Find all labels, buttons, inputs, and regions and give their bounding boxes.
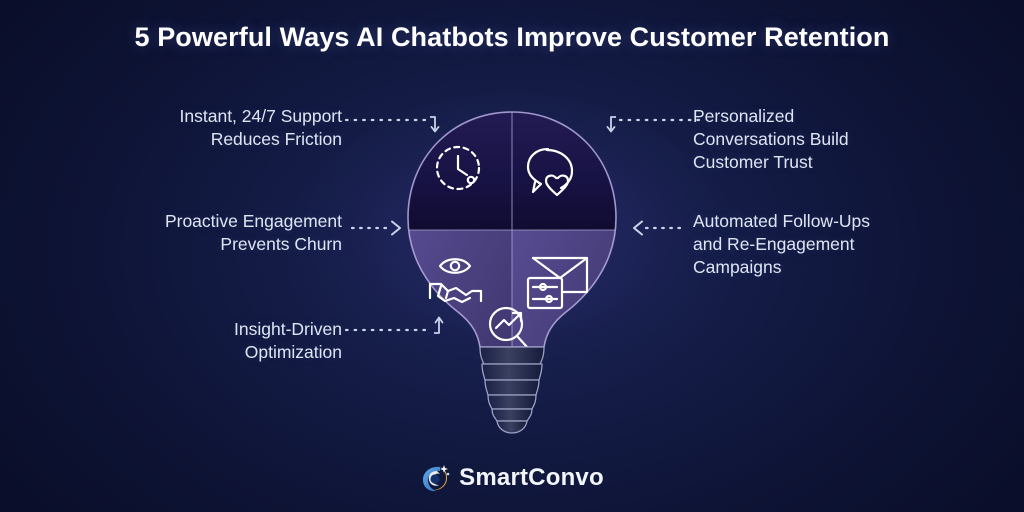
page-title: 5 Powerful Ways AI Chatbots Improve Cust… <box>0 22 1024 53</box>
logo-text: SmartConvo <box>459 464 604 492</box>
quadrant-top-left <box>396 106 512 230</box>
benefit-label-1: Instant, 24/7 Support Reduces Friction <box>180 105 342 151</box>
benefit-label-4: Personalized Conversations Build Custome… <box>693 105 849 174</box>
benefit-label-3: Insight-Driven Optimization <box>234 318 342 364</box>
lightbulb-graphic <box>396 106 628 436</box>
brand-logo: SmartConvo <box>0 462 1024 494</box>
bulb-screw-base <box>480 347 544 433</box>
quadrant-top-right <box>512 106 628 230</box>
benefit-label-2: Proactive Engagement Prevents Churn <box>165 210 342 256</box>
swirl-spiral-icon <box>420 462 450 494</box>
benefit-label-5: Automated Follow-Ups and Re-Engagement C… <box>693 210 870 279</box>
connector-5-dotted-arrow-left <box>626 214 686 246</box>
infographic-canvas: 5 Powerful Ways AI Chatbots Improve Cust… <box>0 0 1024 512</box>
